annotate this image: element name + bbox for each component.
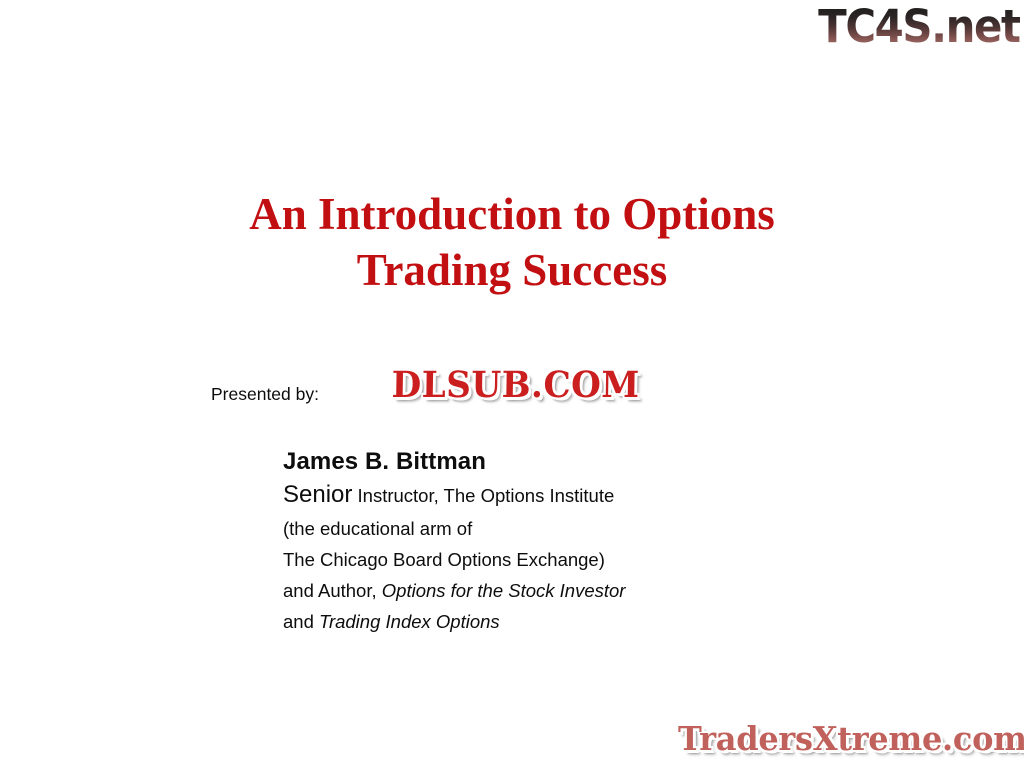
presenter-info-block: James B. Bittman Senior Instructor, The … [283,446,923,637]
author-prefix: and Author, [283,580,377,601]
tc4s-net-logo: TC4S.net [824,2,1020,50]
presentation-slide: TC4S.net An Introduction to Options Trad… [0,0,1024,768]
presenter-author-line-2: and Trading Index Options [283,606,923,637]
presenter-affiliation-line-1: (the educational arm of [283,513,923,544]
title-line-1: An Introduction to Options [112,186,912,242]
slide-title: An Introduction to Options Trading Succe… [112,186,912,298]
presenter-role-suffix: Instructor, The Options Institute [358,485,615,506]
presented-by-label: Presented by: [211,384,319,404]
presenter-author-line-1: and Author, Options for the Stock Invest… [283,575,923,606]
title-line-2: Trading Success [112,242,912,298]
presenter-name: James B. Bittman [283,446,923,478]
presenter-affiliation-line-2: The Chicago Board Options Exchange) [283,544,923,575]
tradersxtreme-com-logo-text: TradersXtreme.com [678,722,1024,755]
presenter-role-prefix: Senior [283,481,352,508]
presented-by-row: Presented by: DLSUB.COM [211,363,731,407]
book-title-2: Trading Index Options [319,611,500,632]
author-connector: and [283,611,314,632]
tradersxtreme-com-logo: TradersXtreme.com [678,714,1022,762]
dlsub-com-logo: DLSUB.COM [368,362,663,407]
dlsub-com-logo-text: DLSUB.COM [391,367,640,403]
tc4s-net-logo-text: TC4S.net [819,4,1020,49]
book-title-1: Options for the Stock Investor [382,580,626,601]
presenter-role: Senior Instructor, The Options Institute [283,478,923,513]
